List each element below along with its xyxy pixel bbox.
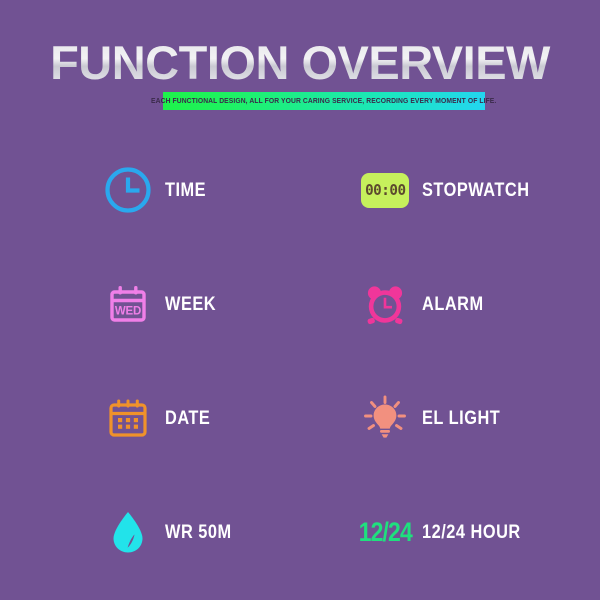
- feature-item-12-24-hour[interactable]: 12/24 12/24 HOUR: [357, 502, 537, 562]
- feature-label-wr-50m: WR 50M: [165, 523, 232, 542]
- feature-label-12-24-hour: 12/24 HOUR: [422, 523, 521, 542]
- clock-icon: [100, 162, 156, 218]
- lightbulb-icon: [357, 390, 413, 446]
- calendar-week-icon: WED: [100, 276, 156, 332]
- page-title: FUNCTION OVERVIEW: [0, 39, 600, 86]
- feature-label-week: WEEK: [165, 295, 216, 314]
- alarm-clock-icon: [357, 276, 413, 332]
- feature-grid: TIME 00:00 STOPWATCH WED WEE: [0, 150, 600, 590]
- twelve-twentyfour-text: 12/24: [358, 519, 411, 546]
- svg-text:WED: WED: [115, 305, 141, 317]
- twelve-twentyfour-icon: 12/24: [357, 504, 413, 560]
- feature-item-time[interactable]: TIME: [100, 160, 213, 220]
- feature-item-el-light[interactable]: EL LIGHT: [357, 388, 513, 448]
- stopwatch-icon: 00:00: [357, 162, 413, 218]
- stopwatch-digits: 00:00: [365, 183, 406, 198]
- subtitle-banner: EACH FUNCTIONAL DESIGN, ALL FOR YOUR CAR…: [163, 92, 485, 110]
- feature-item-date[interactable]: DATE: [100, 388, 218, 448]
- feature-item-stopwatch[interactable]: 00:00 STOPWATCH: [357, 160, 547, 220]
- water-drop-icon: [100, 504, 156, 560]
- feature-label-el-light: EL LIGHT: [422, 409, 500, 428]
- feature-item-alarm[interactable]: ALARM: [357, 274, 494, 334]
- function-overview-poster: FUNCTION OVERVIEW EACH FUNCTIONAL DESIGN…: [0, 0, 600, 600]
- feature-label-stopwatch: STOPWATCH: [422, 181, 530, 200]
- calendar-date-icon: [100, 390, 156, 446]
- feature-label-alarm: ALARM: [422, 295, 484, 314]
- stopwatch-screen: 00:00: [361, 173, 409, 208]
- header: FUNCTION OVERVIEW EACH FUNCTIONAL DESIGN…: [0, 0, 600, 130]
- feature-label-time: TIME: [165, 181, 206, 200]
- subtitle-text: EACH FUNCTIONAL DESIGN, ALL FOR YOUR CAR…: [151, 97, 496, 105]
- feature-label-date: DATE: [165, 409, 210, 428]
- feature-item-wr-50m[interactable]: WR 50M: [100, 502, 243, 562]
- feature-item-week[interactable]: WED WEEK: [100, 274, 224, 334]
